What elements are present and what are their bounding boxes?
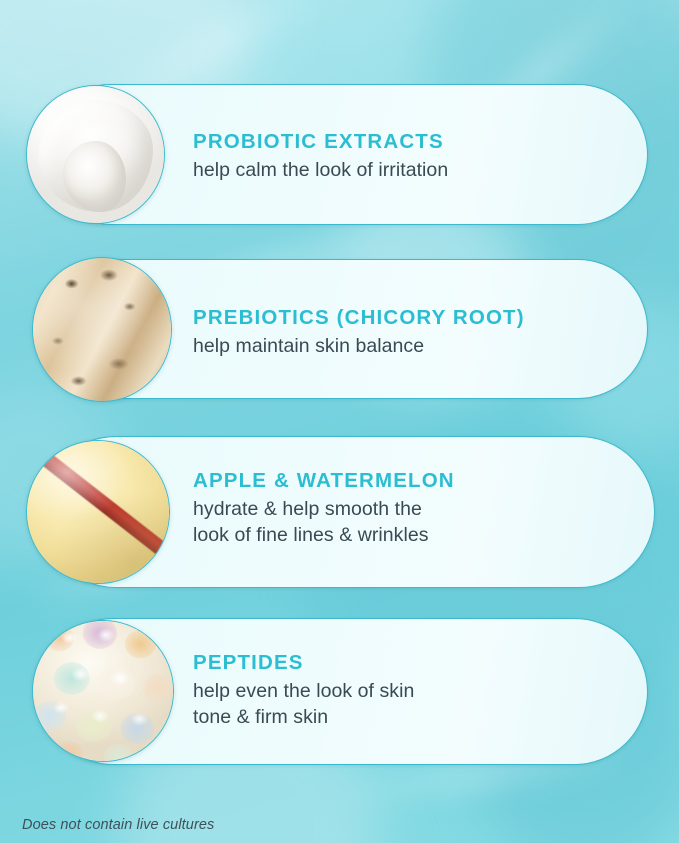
ingredient-heading: APPLE & WATERMELON — [193, 470, 455, 493]
ingredient-benefit-list: PROBIOTIC EXTRACTS help calm the look of… — [0, 0, 679, 843]
disclaimer-footnote: Does not contain live cultures — [22, 817, 214, 833]
ingredient-card-text-apple-watermelon: APPLE & WATERMELON hydrate & help smooth… — [193, 470, 455, 548]
ingredient-heading: PREBIOTICS (CHICORY ROOT) — [193, 307, 525, 330]
ingredient-subtext: help calm the look of irritation — [193, 158, 448, 184]
chicory-root-icon — [32, 257, 172, 402]
cream-swatch-icon — [26, 85, 165, 224]
ingredient-card-text-peptides: PEPTIDES help even the look of skin tone… — [193, 652, 414, 730]
chicory-root-image — [33, 258, 171, 401]
ingredient-subtext: hydrate & help smooth the look of fine l… — [193, 497, 455, 548]
ingredient-subtext: help maintain skin balance — [193, 334, 525, 360]
ingredient-heading: PROBIOTIC EXTRACTS — [193, 131, 448, 154]
ingredient-heading: PEPTIDES — [193, 652, 414, 675]
ingredient-card-text-probiotic-extracts: PROBIOTIC EXTRACTS help calm the look of… — [193, 131, 448, 184]
apple-watermelon-slice-icon — [26, 440, 170, 584]
ingredient-subtext: help even the look of skin tone & firm s… — [193, 679, 414, 730]
cream-swatch-image — [27, 86, 164, 223]
peptide-beads-image — [33, 621, 173, 761]
ingredient-card-text-prebiotics-chicory-root: PREBIOTICS (CHICORY ROOT) help maintain … — [193, 307, 525, 360]
apple-watermelon-slice-image — [27, 441, 169, 583]
peptide-beads-icon — [32, 620, 174, 762]
